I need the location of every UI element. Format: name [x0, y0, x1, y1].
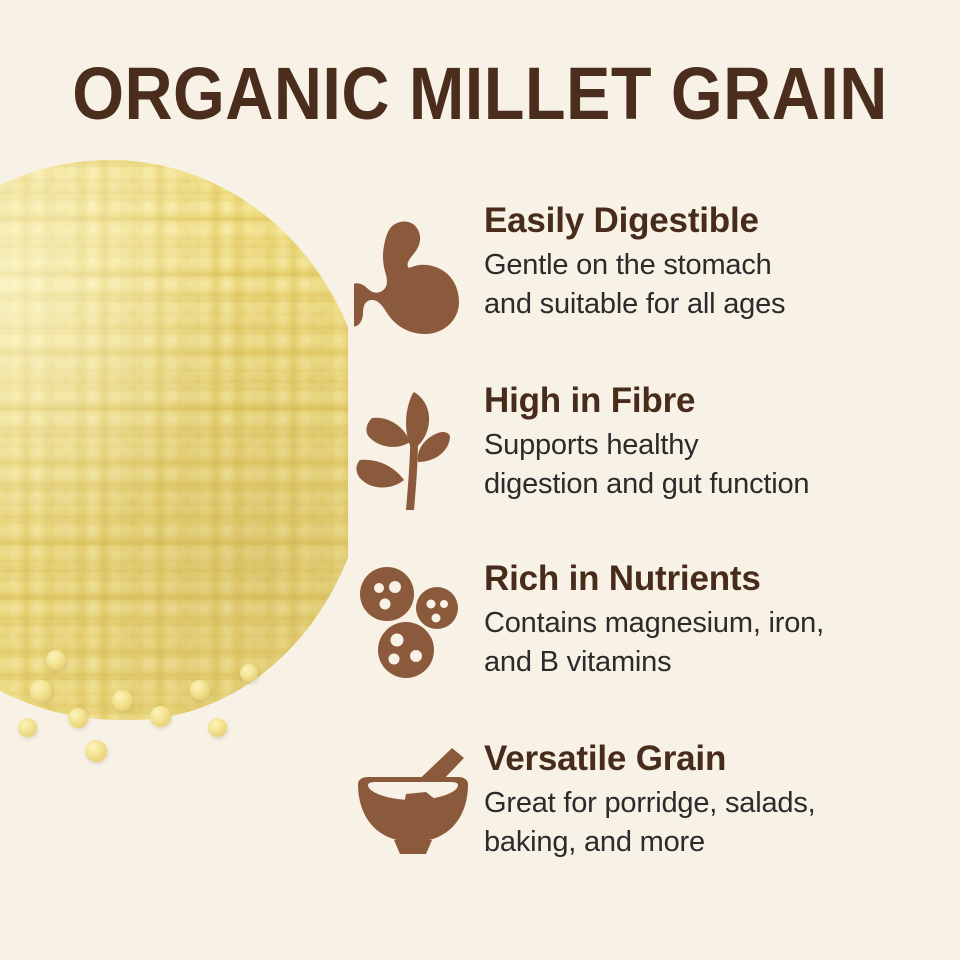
- feature-item-easily-digestible: Easily Digestible Gentle on the stomach …: [350, 200, 940, 352]
- scattered-grain: [112, 690, 133, 711]
- page-title: ORGANIC MILLET GRAIN: [48, 54, 912, 134]
- feature-body-line: Gentle on the stomach: [484, 249, 772, 281]
- scattered-grain: [85, 740, 107, 762]
- feature-heading: High in Fibre: [484, 380, 940, 422]
- feature-body: Gentle on the stomach and suitable for a…: [484, 246, 940, 324]
- scattered-grain: [190, 680, 210, 700]
- feature-body-line: Supports healthy: [484, 429, 698, 461]
- feature-item-rich-in-nutrients: Rich in Nutrients Contains magnesium, ir…: [350, 558, 940, 710]
- scattered-grain: [208, 718, 227, 737]
- grain-texture-layer-3: [0, 160, 348, 720]
- feature-body-line: Great for porridge, salads,: [484, 787, 815, 819]
- feature-body-line: and suitable for all ages: [484, 288, 785, 320]
- feature-body: Great for porridge, salads, baking, and …: [484, 784, 940, 862]
- millet-grain-pile-photo: [0, 150, 348, 790]
- scattered-grain: [46, 650, 66, 670]
- feature-body: Contains magnesium, iron, and B vitamins: [484, 604, 940, 682]
- product-infographic-poster: ORGANIC MILLET GRAIN Easily Digesti: [0, 0, 960, 960]
- grain-seeds-icon: [350, 566, 470, 686]
- feature-body-line: and B vitamins: [484, 646, 671, 678]
- stomach-icon: [350, 218, 470, 338]
- scattered-grain: [30, 680, 52, 702]
- feature-heading: Versatile Grain: [484, 738, 940, 780]
- feature-item-high-in-fibre: High in Fibre Supports healthy digestion…: [350, 380, 940, 530]
- feature-body-line: digestion and gut function: [484, 468, 809, 500]
- feature-list: Easily Digestible Gentle on the stomach …: [350, 200, 940, 888]
- millet-pile: [0, 160, 348, 720]
- feature-item-versatile-grain: Versatile Grain Great for porridge, sala…: [350, 738, 940, 888]
- scattered-grain: [240, 664, 258, 682]
- bowl-with-spoon-icon: [354, 748, 474, 868]
- feature-body: Supports healthy digestion and gut funct…: [484, 426, 940, 504]
- feature-heading: Rich in Nutrients: [484, 558, 940, 600]
- leaf-branch-icon: [350, 388, 470, 508]
- scattered-grain: [150, 706, 171, 727]
- scattered-grain: [68, 708, 88, 728]
- feature-heading: Easily Digestible: [484, 200, 940, 242]
- feature-body-line: Contains magnesium, iron,: [484, 607, 824, 639]
- scattered-grain: [18, 718, 37, 737]
- feature-body-line: baking, and more: [484, 826, 705, 858]
